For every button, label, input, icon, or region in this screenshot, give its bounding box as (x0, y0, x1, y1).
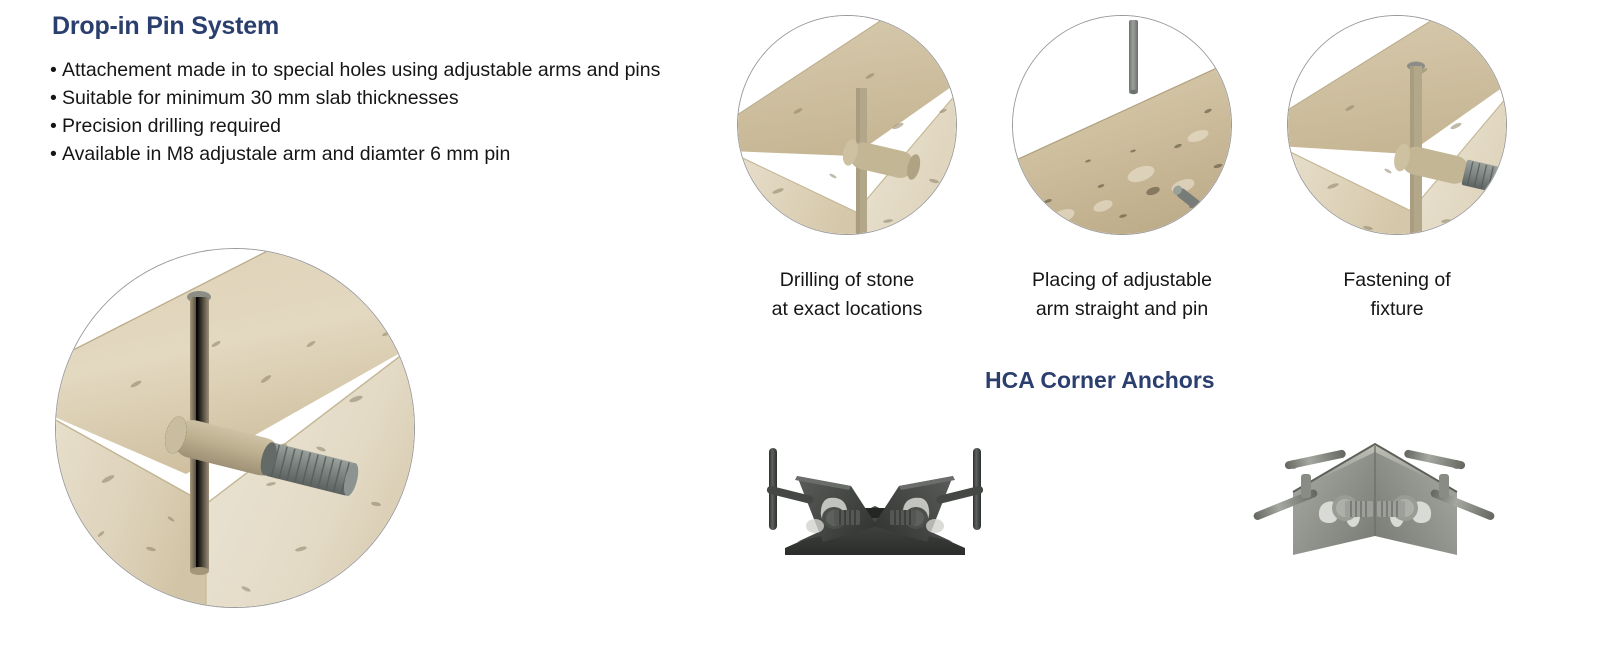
caption-line: Placing of adjustable (992, 266, 1252, 295)
step-caption-2: Placing of adjustable arm straight and p… (992, 266, 1252, 324)
list-item-label: Available in M8 adjustale arm and diamte… (62, 140, 690, 168)
black-corner-anchor-illustration (737, 430, 1013, 555)
step3-illustration (1288, 16, 1507, 235)
step-figure-placing (1012, 15, 1232, 235)
step-caption-3: Fastening of fixture (1267, 266, 1527, 324)
hero-assembly-illustration (56, 249, 415, 608)
stainless-corner-anchor-illustration (1235, 430, 1513, 555)
list-item-label: Suitable for minimum 30 mm slab thicknes… (62, 84, 690, 112)
caption-line: at exact locations (717, 295, 977, 324)
anchor-bolt-right (1377, 501, 1405, 517)
section-title-hca: HCA Corner Anchors (985, 367, 1215, 394)
list-item-label: Attachement made in to special holes usi… (62, 56, 690, 84)
bullet-marker-icon: • (50, 56, 62, 84)
bullet-marker-icon: • (50, 140, 62, 168)
drill-bit (1129, 20, 1138, 92)
step1-illustration (738, 16, 957, 235)
product-image-black-corner-anchor (737, 430, 1013, 555)
anchor-bolt-left (834, 510, 860, 525)
step2-illustration (1013, 16, 1232, 235)
caption-line: Drilling of stone (717, 266, 977, 295)
list-item: • Suitable for minimum 30 mm slab thickn… (50, 84, 690, 112)
list-item: • Attachement made in to special holes u… (50, 56, 690, 84)
left-column: Drop-in Pin System • Attachement made in… (0, 0, 700, 653)
product-image-stainless-corner-anchor (1235, 430, 1513, 555)
anchor-bolt-right (890, 510, 916, 525)
caption-line: arm straight and pin (992, 295, 1252, 324)
step-figure-fastening (1287, 15, 1507, 235)
caption-line: Fastening of (1267, 266, 1527, 295)
list-item-label: Precision drilling required (62, 112, 690, 140)
step-figure-drilling (737, 15, 957, 235)
step-caption-1: Drilling of stone at exact locations (717, 266, 977, 324)
anchor-bolt-left (1345, 501, 1373, 517)
page-title: Drop-in Pin System (52, 12, 279, 41)
caption-line: fixture (1267, 295, 1527, 324)
poster-root: Drop-in Pin System • Attachement made in… (0, 0, 1609, 653)
list-item: • Precision drilling required (50, 112, 690, 140)
list-item: • Available in M8 adjustale arm and diam… (50, 140, 690, 168)
feature-bullet-list: • Attachement made in to special holes u… (50, 56, 690, 168)
bullet-marker-icon: • (50, 112, 62, 140)
hero-assembly-figure (55, 248, 415, 608)
bullet-marker-icon: • (50, 84, 62, 112)
